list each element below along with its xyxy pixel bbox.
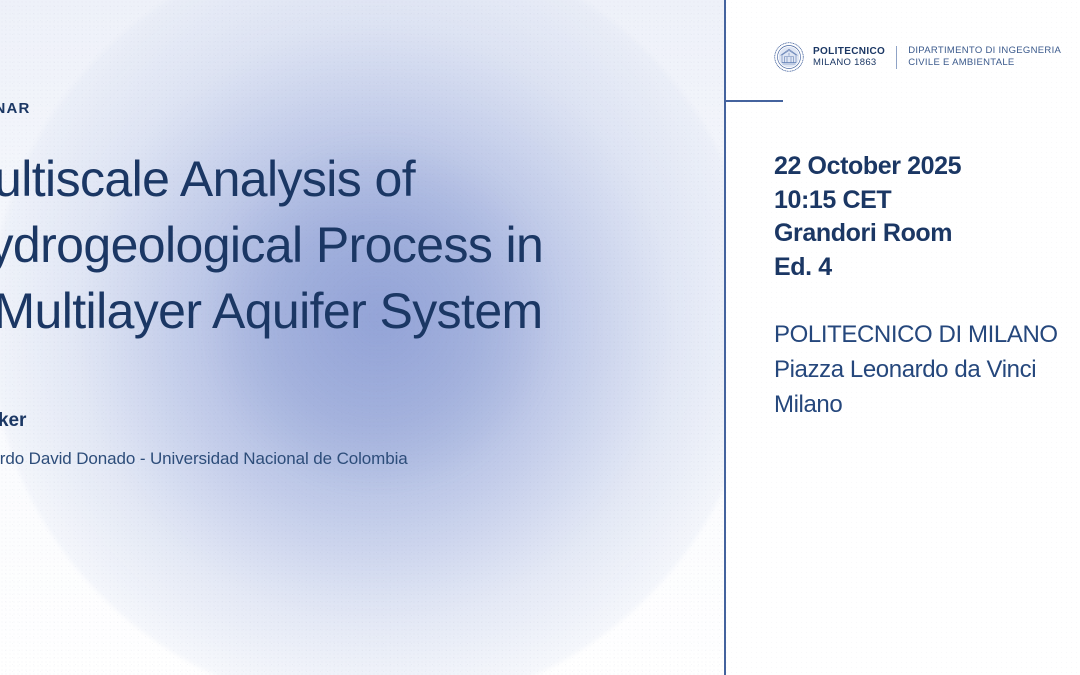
venue-address-block: POLITECNICO DI MILANO Piazza Leonardo da…	[774, 317, 1080, 422]
event-building: Ed. 4	[774, 251, 1080, 285]
wordmark-milano-1863: MILANO 1863	[813, 57, 885, 69]
eyebrow-label: SEMINAR	[0, 100, 31, 117]
speaker-name: Leonardo David Donado - Universidad Naci…	[0, 448, 724, 470]
horizontal-accent-rule	[726, 100, 783, 102]
headline-line-1: Multiscale Analysis of	[0, 146, 724, 212]
page-title: Multiscale Analysis of Hydrogeological P…	[0, 146, 724, 344]
venue-institution: POLITECNICO DI MILANO	[774, 317, 1080, 352]
event-date: 22 October 2025	[774, 150, 1080, 184]
left-text-stack: SEMINAR Multiscale Analysis of Hydrogeol…	[0, 0, 724, 675]
politecnico-wordmark: POLITECNICO MILANO 1863	[813, 46, 885, 69]
logo-vertical-divider	[896, 46, 897, 69]
left-art-panel: SEMINAR Multiscale Analysis of Hydrogeol…	[0, 0, 724, 675]
venue-address: Piazza Leonardo da Vinci	[774, 352, 1080, 387]
event-room: Grandori Room	[774, 217, 1080, 251]
politecnico-logo-lockup: POLITECNICO MILANO 1863 DIPARTIMENTO DI …	[774, 42, 1061, 72]
right-info-panel: POLITECNICO MILANO 1863 DIPARTIMENTO DI …	[724, 0, 1080, 675]
event-details-block: 22 October 2025 10:15 CET Grandori Room …	[774, 150, 1080, 284]
headline-line-2: Hydrogeological Process in	[0, 212, 724, 278]
seminar-poster: SEMINAR Multiscale Analysis of Hydrogeol…	[0, 0, 1080, 675]
venue-city: Milano	[774, 387, 1080, 422]
department-name: DIPARTIMENTO DI INGEGNERIA CIVILE E AMBI…	[908, 45, 1061, 69]
department-line-2: CIVILE E AMBIENTALE	[908, 57, 1061, 69]
speaker-block: Speaker Leonardo David Donado - Universi…	[0, 408, 724, 470]
event-time: 10:15 CET	[774, 184, 1080, 218]
headline-line-3: a Multilayer Aquifer System	[0, 278, 724, 344]
wordmark-politecnico: POLITECNICO	[813, 46, 885, 58]
speaker-label: Speaker	[0, 408, 724, 434]
politecnico-seal-icon	[774, 42, 804, 72]
department-line-1: DIPARTIMENTO DI INGEGNERIA	[908, 45, 1061, 57]
